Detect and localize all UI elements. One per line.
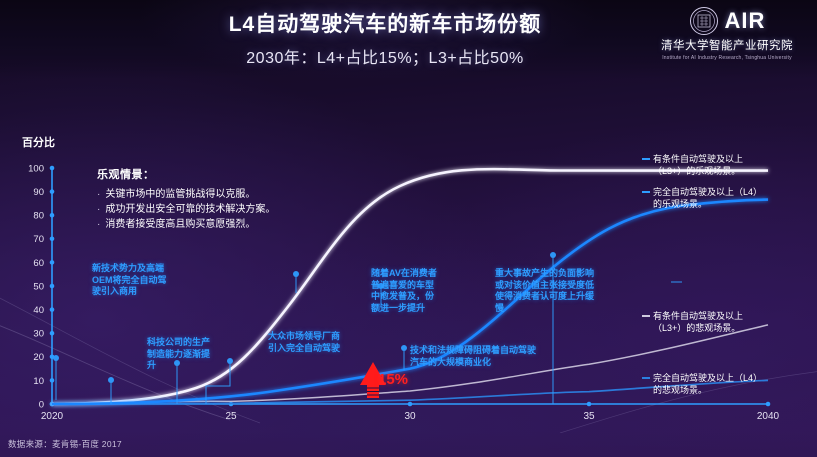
list-item-label: 成功开发出安全可靠的技术解决方案。 (105, 202, 275, 217)
legend-l4-optimistic: 完全自动驾驶及以上（L4） 的乐观场景。 (653, 186, 762, 210)
anno-tech-mfg: 科技公司的生产 制造能力逐渐提 升 (147, 337, 210, 372)
svg-text:90: 90 (33, 187, 44, 198)
logo-english-name: Institute for AI Industry Research, Tsin… (647, 55, 807, 61)
anno-line: 普遍喜爱的车型 (371, 280, 437, 292)
bullet-icon: · (97, 187, 100, 202)
legend-line: 的乐观场景。 (653, 198, 762, 210)
anno-line: 升 (147, 360, 210, 372)
logo-air-mark: AIR (725, 8, 766, 34)
data-source-note: 数据来源：麦肯锡-百度 2017 (8, 438, 122, 450)
legend-line: 有条件自动驾驶及以上 (653, 310, 743, 322)
slide-root: L4自动驾驶汽车的新车市场份额 2030年：L4+占比15%；L3+占比50% … (0, 0, 817, 457)
anno-line: 大众市场领导厂商 (268, 331, 340, 343)
legend-line: 的悲观场景。 (653, 384, 762, 396)
legend-swatch-icon (642, 315, 650, 317)
highlight-percent-label: 15% (378, 371, 408, 388)
anno-line: 驶引入商用 (92, 286, 167, 298)
svg-text:0: 0 (39, 399, 44, 410)
svg-text:2020: 2020 (41, 411, 64, 422)
optimistic-scenario-title: 乐观情景： (97, 166, 357, 182)
legend-swatch-icon (642, 158, 650, 160)
logo: AIR 清华大学智能产业研究院 Institute for AI Industr… (647, 6, 807, 64)
anno-new-tech: 新技术势力及高端 OEM将完全自动驾 驶引入商用 (92, 263, 167, 298)
svg-text:100: 100 (28, 164, 44, 175)
anno-line: 科技公司的生产 (147, 337, 210, 349)
svg-text:10: 10 (33, 376, 44, 387)
legend-l3-pessimistic: 有条件自动驾驶及以上 （L3+）的悲观场景。 (653, 310, 743, 334)
logo-chinese-name: 清华大学智能产业研究院 (647, 37, 807, 53)
page-title: L4自动驾驶汽车的新车市场份额 (150, 8, 620, 38)
anno-line: 新技术势力及高端 (92, 263, 167, 275)
list-item-label: 关键市场中的监管挑战得以克服。 (105, 187, 255, 202)
list-item-label: 消费者接受度高且购买意愿强烈。 (105, 217, 255, 232)
optimistic-scenario-list: · 关键市场中的监管挑战得以克服。 · 成功开发出安全可靠的技术解决方案。 · … (97, 187, 357, 232)
legend-line: 完全自动驾驶及以上（L4） (653, 186, 762, 198)
list-item: · 成功开发出安全可靠的技术解决方案。 (97, 202, 357, 217)
legend-swatch-icon (642, 377, 650, 379)
svg-text:35: 35 (583, 411, 595, 422)
svg-text:2040: 2040 (757, 411, 780, 422)
list-item: · 关键市场中的监管挑战得以克服。 (97, 187, 357, 202)
anno-line: 技术和法规障碍阻碍着自动驾驶 (410, 345, 536, 357)
anno-line: 或对该价值主张接受度低 (495, 280, 594, 292)
list-item: · 消费者接受度高且购买意愿强烈。 (97, 217, 357, 232)
anno-line: 使得消费者认可度上升缓 (495, 291, 594, 303)
anno-line: 重大事故产生的负面影响 (495, 268, 594, 280)
svg-text:20: 20 (33, 352, 44, 363)
anno-line: 额进一步提升 (371, 303, 437, 315)
bullet-icon: · (97, 202, 100, 217)
svg-text:60: 60 (33, 258, 44, 269)
legend-line: （L3+）的乐观场景。 (653, 165, 743, 177)
page-subtitle: 2030年：L4+占比15%；L3+占比50% (150, 44, 620, 68)
anno-mass-market: 大众市场领导厂商 引入完全自动驾驶 (268, 331, 340, 354)
svg-text:40: 40 (33, 305, 44, 316)
svg-text:80: 80 (33, 211, 44, 222)
legend-swatch-icon (642, 191, 650, 193)
anno-line: 引入完全自动驾驶 (268, 343, 340, 355)
y-ticks: 100 90 80 70 60 50 40 30 20 10 0 (28, 164, 54, 411)
anno-line: 随着AV在消费者 (371, 268, 437, 280)
anno-line: 制造能力逐渐提 (147, 349, 210, 361)
title-block: L4自动驾驶汽车的新车市场份额 2030年：L4+占比15%；L3+占比50% (150, 8, 620, 68)
optimistic-scenario-panel: 乐观情景： · 关键市场中的监管挑战得以克服。 · 成功开发出安全可靠的技术解决… (97, 166, 357, 232)
tsinghua-seal-icon (689, 6, 719, 36)
logo-row: AIR (647, 6, 807, 36)
svg-text:25: 25 (225, 411, 237, 422)
legend-l3-optimistic: 有条件自动驾驶及以上 （L3+）的乐观场景。 (653, 153, 743, 177)
anno-barriers: 技术和法规障碍阻碍着自动驾驶 汽车的大规模商业化 (410, 345, 536, 368)
bullet-icon: · (97, 217, 100, 232)
y-axis-title: 百分比 (22, 135, 55, 149)
svg-text:30: 30 (33, 329, 44, 340)
anno-line: 中愈发普及，份 (371, 291, 437, 303)
legend-line: 完全自动驾驶及以上（L4） (653, 372, 762, 384)
svg-text:70: 70 (33, 234, 44, 245)
anno-line: 汽车的大规模商业化 (410, 357, 536, 369)
svg-text:50: 50 (33, 281, 44, 292)
footer-band (0, 431, 817, 457)
legend-l4-pessimistic: 完全自动驾驶及以上（L4） 的悲观场景。 (653, 372, 762, 396)
anno-av-popular: 随着AV在消费者 普遍喜爱的车型 中愈发普及，份 额进一步提升 (371, 268, 437, 314)
anno-accident: 重大事故产生的负面影响 或对该价值主张接受度低 使得消费者认可度上升缓 慢 (495, 268, 594, 314)
anno-line: OEM将完全自动驾 (92, 275, 167, 287)
legend-line: （L3+）的悲观场景。 (653, 322, 743, 334)
anno-line: 慢 (495, 303, 594, 315)
legend-line: 有条件自动驾驶及以上 (653, 153, 743, 165)
svg-text:30: 30 (404, 411, 416, 422)
